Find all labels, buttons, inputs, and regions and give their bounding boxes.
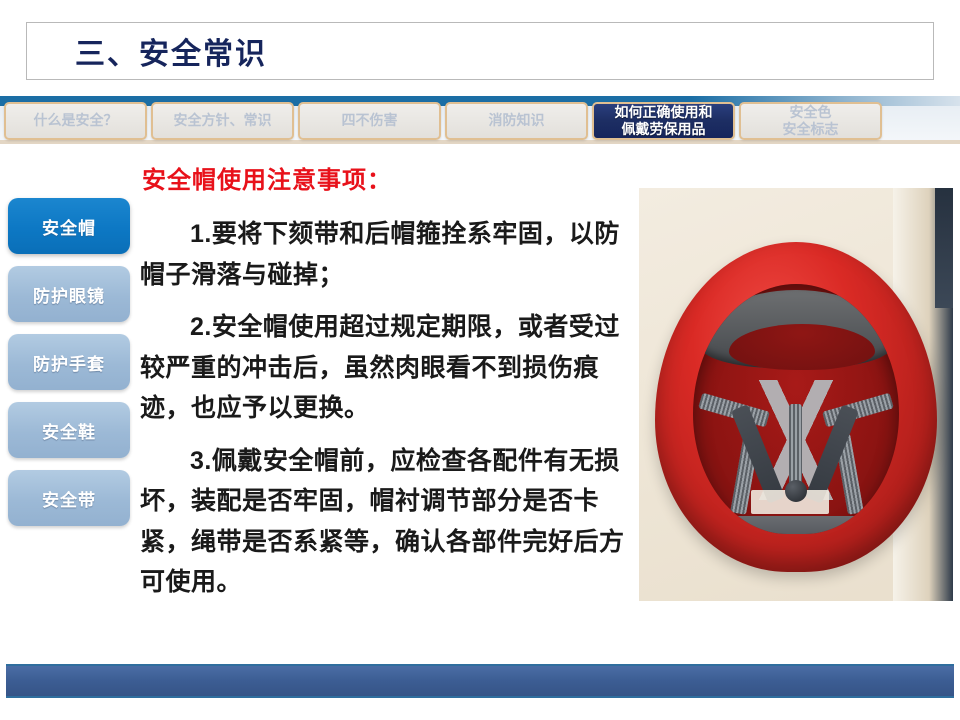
sidebar-item-label: 安全鞋: [42, 418, 96, 443]
tab-label-line1: 如何正确使用和: [615, 104, 713, 122]
tab-safety-colors-signs[interactable]: 安全色 安全标志: [739, 102, 882, 140]
tab-safety-policy[interactable]: 安全方针、常识: [151, 102, 294, 140]
tab-label-line1: 四不伤害: [342, 112, 398, 130]
helmet-nape-strap: [721, 516, 871, 534]
tab-label-line2: 安全标志: [783, 121, 839, 139]
tabstrip-underline: [0, 140, 960, 144]
tab-four-no-harm[interactable]: 四不伤害: [298, 102, 441, 140]
photo-background-dark-edge: [935, 188, 953, 308]
sidebar-item-label: 防护手套: [33, 350, 105, 375]
content-paragraph-3: 3.佩戴安全帽前，应检查各配件有无损坏，装配是否牢固，帽衬调节部分是否卡紧，绳带…: [140, 441, 640, 603]
sidebar-item-goggles[interactable]: 防护眼镜: [8, 266, 130, 322]
tab-what-is-safety[interactable]: 什么是安全？: [4, 102, 147, 140]
helmet-brow-pad: [699, 290, 893, 368]
tab-ppe-usage[interactable]: 如何正确使用和 佩戴劳保用品: [592, 102, 735, 140]
tab-label-line1: 安全色: [790, 104, 832, 122]
section-tabstrip: 什么是安全？ 安全方针、常识 四不伤害 消防知识 如何正确使用和 佩戴劳保用品 …: [0, 96, 960, 146]
sidebar-item-label: 安全帽: [42, 214, 96, 239]
tab-label-line1: 什么是安全？: [34, 112, 118, 130]
sidebar-item-gloves[interactable]: 防护手套: [8, 334, 130, 390]
sidebar-item-label: 防护眼镜: [33, 282, 105, 307]
sidebar-item-helmet[interactable]: 安全帽: [8, 198, 130, 254]
sidebar-item-shoes[interactable]: 安全鞋: [8, 402, 130, 458]
content-heading: 安全帽使用注意事项：: [142, 160, 392, 195]
tab-label-line1: 消防知识: [489, 112, 545, 130]
slide-title-box: 三、安全常识: [26, 22, 934, 80]
ppe-sidebar: 安全帽 防护眼镜 防护手套 安全鞋 安全带: [8, 198, 130, 538]
content-paragraph-2: 2.安全帽使用超过规定期限，或者受过较严重的冲击后，虽然肉眼看不到损伤痕迹，也应…: [140, 307, 640, 429]
sidebar-item-harness[interactable]: 安全带: [8, 470, 130, 526]
helmet-strap: [789, 404, 802, 492]
helmet-photo: [639, 188, 953, 601]
page-title: 三、安全常识: [75, 29, 267, 73]
sidebar-item-label: 安全带: [42, 486, 96, 511]
tab-label-line2: 佩戴劳保用品: [622, 121, 706, 139]
tab-label-line1: 安全方针、常识: [174, 112, 272, 130]
tab-fire-knowledge[interactable]: 消防知识: [445, 102, 588, 140]
content-body: 1.要将下颏带和后帽箍拴系牢固，以防帽子滑落与碰掉； 2.安全帽使用超过规定期限…: [140, 214, 640, 615]
helmet-brow-opening: [729, 324, 875, 370]
helmet-interior: [693, 284, 899, 534]
footer-bar: [6, 664, 954, 698]
tab-list: 什么是安全？ 安全方针、常识 四不伤害 消防知识 如何正确使用和 佩戴劳保用品 …: [4, 102, 882, 140]
content-paragraph-1: 1.要将下颏带和后帽箍拴系牢固，以防帽子滑落与碰掉；: [140, 214, 640, 295]
helmet-center-knob: [785, 480, 807, 502]
